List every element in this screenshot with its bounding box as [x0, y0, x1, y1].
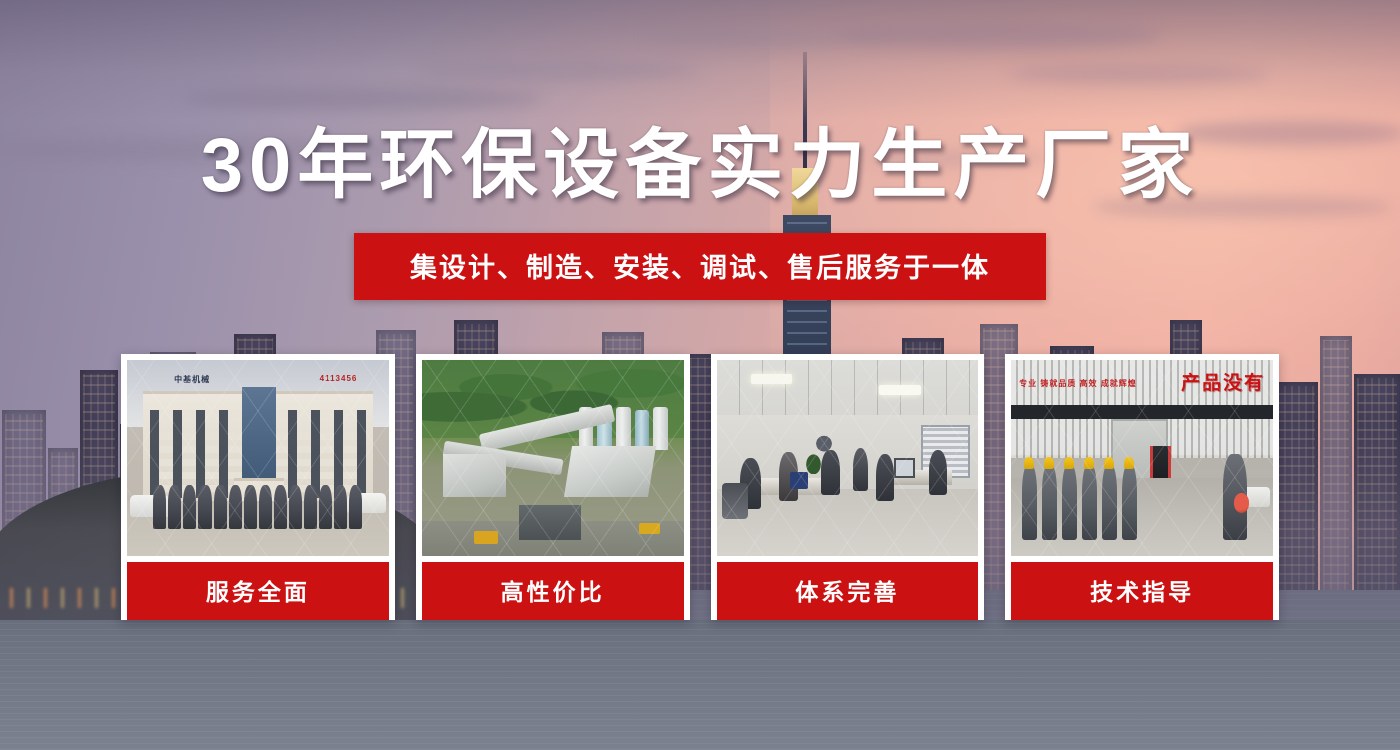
feature-card-list: 中基机械 4113456 服务全面: [121, 354, 1279, 620]
promo-banner: 30年环保设备实力生产厂家 集设计、制造、安装、调试、售后服务于一体 中基机械 …: [0, 0, 1400, 750]
page-title: 30年环保设备实力生产厂家: [0, 128, 1400, 204]
factory-hall: [564, 446, 656, 497]
loading-shed: [519, 505, 582, 540]
cloud-decoration: [840, 22, 1160, 48]
card-caption: 体系完善: [717, 562, 979, 620]
office-worker: [821, 450, 839, 495]
card-caption: 技术指导: [1011, 562, 1273, 620]
subtitle-badge: 集设计、制造、安装、调试、售后服务于一体: [354, 233, 1046, 300]
office-worker: [853, 448, 869, 491]
feature-card[interactable]: 中基机械 4113456 服务全面: [121, 354, 395, 620]
cloud-decoration: [1008, 64, 1268, 84]
excavator: [639, 523, 660, 535]
desktop-monitor: [894, 458, 915, 478]
subtitle-container: 集设计、制造、安装、调试、售后服务于一体: [0, 233, 1400, 300]
office-worker: [876, 454, 894, 501]
company-headquarters-photo: 中基机械 4113456: [127, 360, 389, 556]
office-ceiling: [717, 360, 979, 419]
phone-number-text: 4113456: [320, 374, 358, 383]
company-sign-text: 中基机械: [174, 374, 210, 385]
ceiling-light: [751, 374, 793, 384]
factory-slogan-text: 专业 铸就品质 高效 成就辉煌: [1019, 378, 1137, 390]
factory-hall: [443, 454, 506, 497]
workshop-training-photo: 产品没有 专业 铸就品质 高效 成就辉煌: [1011, 360, 1273, 556]
cloud-decoration: [420, 62, 700, 80]
worker-lineup: [1022, 458, 1137, 540]
staff-lineup: [153, 485, 362, 528]
office-interior-photo: [717, 360, 979, 556]
feature-card[interactable]: 产品没有 专业 铸就品质 高效 成就辉煌 技术指导: [1005, 354, 1279, 620]
cloud-decoration: [182, 88, 542, 110]
card-caption: 高性价比: [422, 562, 684, 620]
ceiling-light: [879, 385, 921, 395]
office-worker: [929, 450, 947, 495]
laptop-screen: [790, 472, 808, 490]
aerial-production-plant-photo: [422, 360, 684, 556]
office-chair: [722, 483, 748, 518]
factory-sign-text: 产品没有: [1181, 368, 1265, 395]
excavator: [474, 531, 498, 545]
feature-card[interactable]: 高性价比: [416, 354, 690, 620]
cloud-decoration: [644, 30, 884, 46]
card-caption: 服务全面: [127, 562, 389, 620]
facade-window-strip: [1011, 405, 1273, 419]
feature-card[interactable]: 体系完善: [711, 354, 985, 620]
